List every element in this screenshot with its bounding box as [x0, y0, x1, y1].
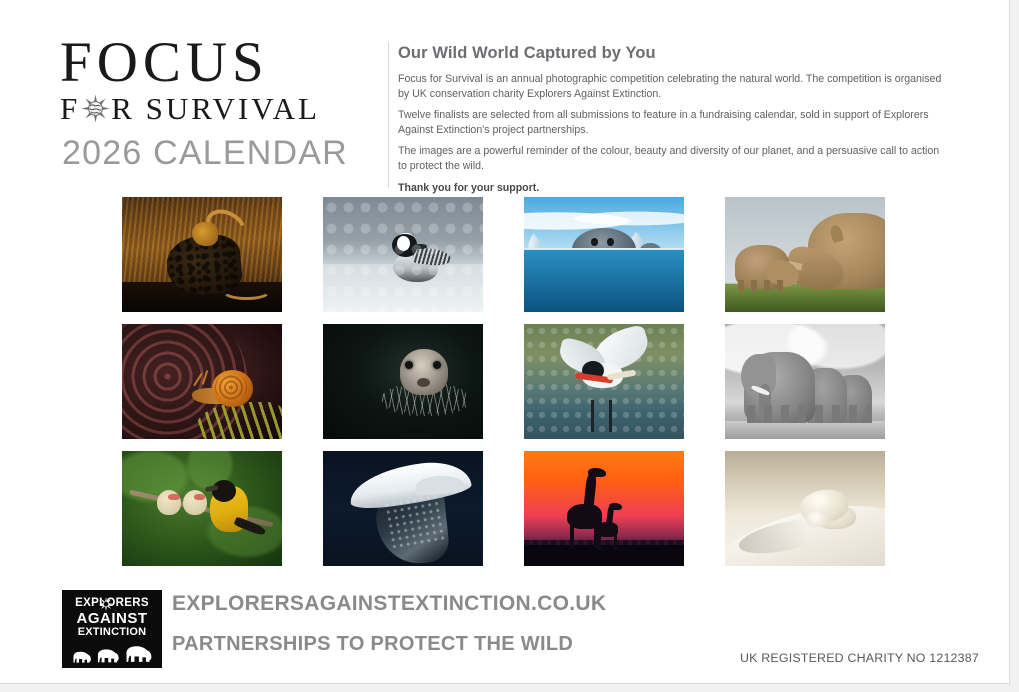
photo-seal-in-arctic-water[interactable] [524, 197, 684, 312]
brand-subtitle-prefix: F [60, 93, 80, 124]
intro-text-block: Our Wild World Captured by You Focus for… [398, 44, 950, 195]
brand-title-for-survival: F [60, 93, 360, 124]
photo-hooded-merganser-duck[interactable] [323, 197, 483, 312]
intro-thank-you: Thank you for your support. [398, 181, 950, 195]
intro-divider-rule [388, 42, 389, 188]
intro-paragraph-3: The images are a powerful reminder of th… [398, 144, 950, 173]
logo-line-extinction: EXTINCTION [62, 627, 162, 638]
calendar-page: FOCUS F [0, 0, 1010, 684]
photo-oriole-feeding-chicks[interactable] [122, 451, 282, 566]
elephants-icon [62, 638, 162, 664]
explorers-against-extinction-logo[interactable]: EXPLORERS AGAINST EXTINCTION [62, 590, 162, 668]
charity-registration-note: UK REGISTERED CHARITY NO 1212387 [740, 651, 979, 665]
photo-snail-on-seaweed[interactable] [122, 324, 282, 439]
footer-text-block: EXPLORERSAGAINSTEXTINCTION.CO.UK PARTNER… [172, 592, 606, 656]
page-footer: EXPLORERS AGAINST EXTINCTION EXPLORERSAG… [0, 580, 1010, 684]
calendar-year-title: 2026 CALENDAR [62, 134, 348, 173]
logo-line-against: AGAINST [62, 611, 162, 626]
focus-for-survival-logo: FOCUS F [60, 34, 360, 124]
intro-paragraph-1: Focus for Survival is an annual photogra… [398, 72, 950, 101]
photo-whale-fin[interactable] [323, 451, 483, 566]
photo-giraffes-at-sunset[interactable] [524, 451, 684, 566]
compass-icon [99, 597, 113, 611]
photo-skimmers-fighting[interactable] [524, 324, 684, 439]
footer-website-url[interactable]: EXPLORERSAGAINSTEXTINCTION.CO.UK [172, 592, 606, 616]
photo-polar-bears-on-snow[interactable] [725, 451, 885, 566]
photo-elephant-herd-bw[interactable] [725, 324, 885, 439]
page-header: FOCUS F [0, 0, 1010, 190]
brand-title-focus: FOCUS [60, 34, 360, 91]
finalist-photo-grid [122, 197, 886, 566]
intro-heading: Our Wild World Captured by You [398, 44, 950, 63]
brand-subtitle-suffix: R SURVIVAL [111, 93, 320, 124]
compass-globe-icon [81, 94, 110, 123]
photo-white-rhinos-grazing[interactable] [725, 197, 885, 312]
photo-sea-lion-underwater[interactable] [323, 324, 483, 439]
intro-paragraph-2: Twelve finalists are selected from all s… [398, 108, 950, 137]
footer-tagline: PARTNERSHIPS TO PROTECT THE WILD [172, 633, 606, 656]
photo-leopard-on-branch[interactable] [122, 197, 282, 312]
